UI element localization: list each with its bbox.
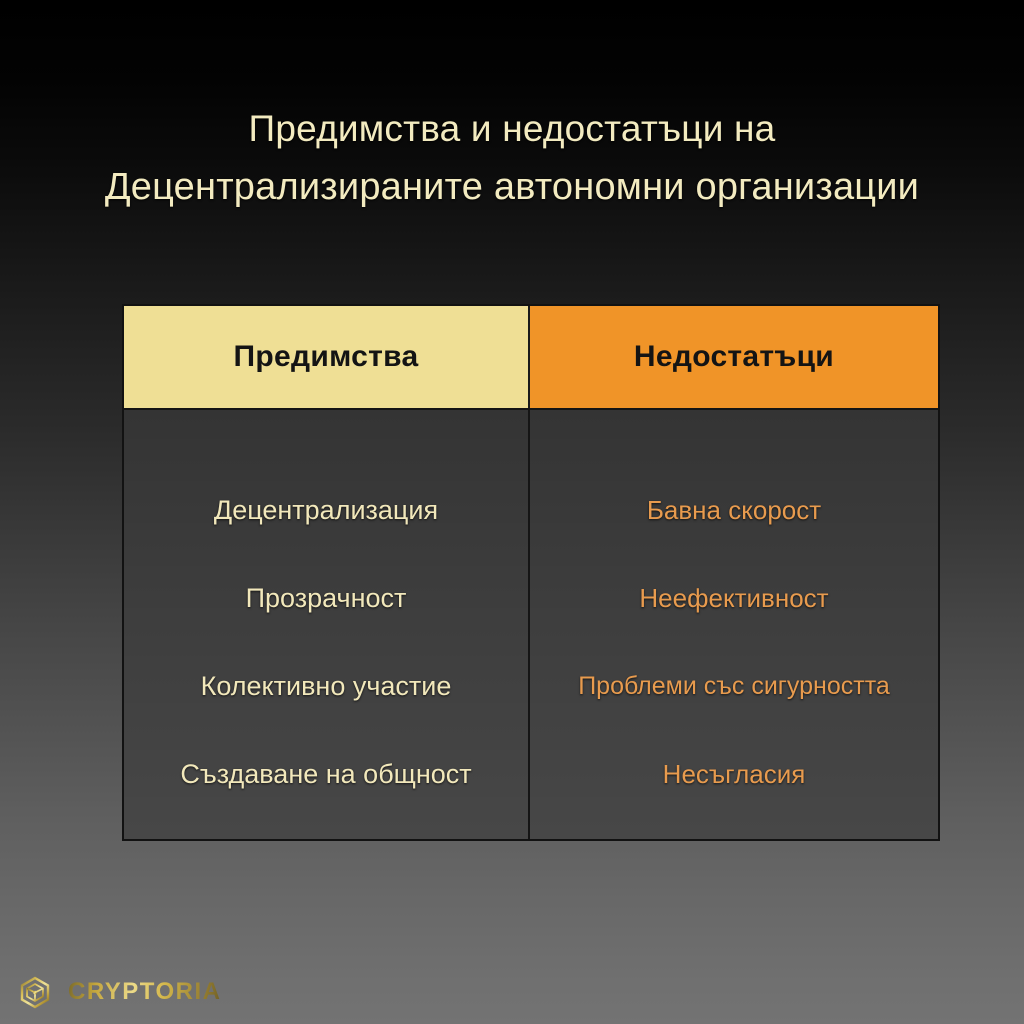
title-line-1: Предимства и недостатъци на — [0, 100, 1024, 158]
table-row: Проблеми със сигурността — [530, 642, 938, 730]
slide-canvas: Предимства и недостатъци на Децентрализи… — [0, 0, 1024, 1024]
table-row: Несъгласия — [530, 730, 938, 818]
title-line-2: Децентрализираните автономни организации — [0, 158, 1024, 216]
table-header-cons: Недостатъци — [530, 306, 938, 408]
table-header-pros: Предимства — [124, 306, 530, 408]
table-row: Бавна скорост — [530, 466, 938, 554]
table-row: Колективно участие — [124, 642, 528, 730]
table-header-row: Предимства Недостатъци — [124, 306, 938, 410]
page-title: Предимства и недостатъци на Децентрализи… — [0, 100, 1024, 216]
hexagon-cube-icon — [10, 966, 60, 1018]
table-column-cons: Бавна скорост Неефективност Проблеми със… — [530, 410, 938, 839]
table-body: Децентрализация Прозрачност Колективно у… — [124, 410, 938, 839]
table-row: Неефективност — [530, 554, 938, 642]
table-row: Децентрализация — [124, 466, 528, 554]
table-row: Прозрачност — [124, 554, 528, 642]
brand-logo: CRYPTORIA — [10, 966, 222, 1018]
comparison-table: Предимства Недостатъци Децентрализация П… — [122, 304, 940, 841]
table-row: Създаване на общност — [124, 730, 528, 818]
table-column-pros: Децентрализация Прозрачност Колективно у… — [124, 410, 530, 839]
brand-name: CRYPTORIA — [68, 978, 222, 1006]
